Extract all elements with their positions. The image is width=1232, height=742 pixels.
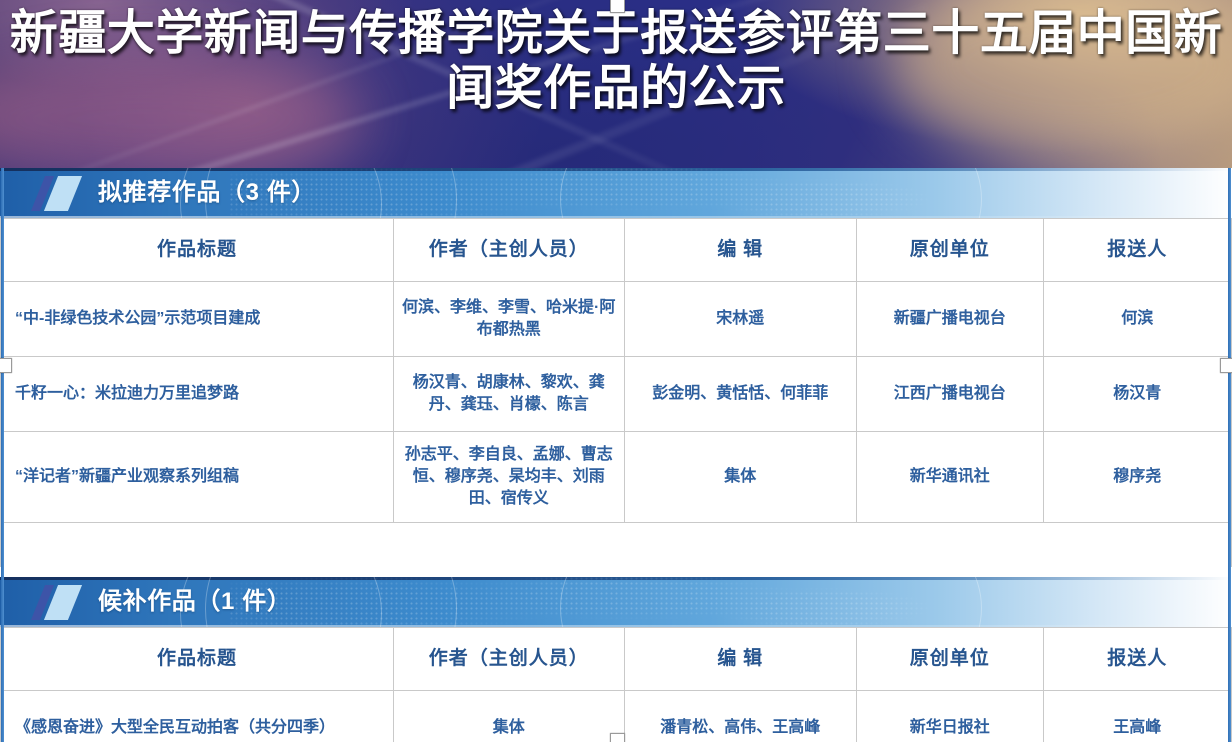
cell-unit: 新疆广播电视台 — [857, 282, 1043, 357]
column-header-editor: 编 辑 — [624, 628, 857, 691]
selection-handle-top[interactable] — [610, 0, 625, 13]
slide-canvas: 新疆大学新闻与传播学院关于报送参评第三十五届中国新 闻奖作品的公示 拟推荐作品（… — [0, 0, 1232, 742]
cell-editor: 潘青松、高伟、王高峰 — [624, 691, 857, 742]
cell-submitter: 穆序尧 — [1043, 432, 1231, 523]
column-header-editor: 编 辑 — [624, 219, 857, 282]
cell-authors: 孙志平、李自良、孟娜、曹志恒、穆序尧、杲均丰、刘雨田、宿传义 — [393, 432, 624, 523]
column-header-title: 作品标题 — [1, 628, 394, 691]
cell-submitter: 王高峰 — [1043, 691, 1231, 742]
table-header-row: 作品标题 作者（主创人员） 编 辑 原创单位 报送人 — [1, 219, 1232, 282]
section-bottom-rule — [0, 625, 1232, 627]
selection-handle-bottom[interactable] — [610, 733, 625, 742]
cell-submitter: 何滨 — [1043, 282, 1231, 357]
section-gap — [0, 567, 1232, 577]
cell-editor: 集体 — [624, 432, 857, 523]
cell-authors: 杨汉青、胡康林、黎欢、龚丹、龚珏、肖檬、陈言 — [393, 357, 624, 432]
slide-body: 拟推荐作品（3 件） 作品标题 作者（主创人员） 编 辑 原创单位 报送人 “中… — [0, 168, 1232, 742]
cell-submitter: 杨汉青 — [1043, 357, 1231, 432]
world-map-dot-pattern — [230, 577, 950, 627]
column-header-unit: 原创单位 — [857, 219, 1043, 282]
selection-edge-right — [1228, 168, 1231, 742]
selection-handle-right[interactable] — [1220, 358, 1232, 373]
section-title-alternate: 候补作品（1 件） — [98, 577, 291, 627]
column-header-title: 作品标题 — [1, 219, 394, 282]
cell-title: “中-非绿色技术公园”示范项目建成 — [1, 282, 394, 357]
column-header-submitter: 报送人 — [1043, 219, 1231, 282]
table-header-row: 作品标题 作者（主创人员） 编 辑 原创单位 报送人 — [1, 628, 1232, 691]
selection-edge-left — [1, 168, 4, 742]
cell-title: 千籽一心：米拉迪力万里追梦路 — [1, 357, 394, 432]
page-title: 新疆大学新闻与传播学院关于报送参评第三十五届中国新 闻奖作品的公示 — [0, 0, 1232, 116]
cell-editor: 彭金明、黄恬恬、何菲菲 — [624, 357, 857, 432]
section-header-recommended: 拟推荐作品（3 件） — [0, 168, 1232, 218]
cell-editor: 宋林遥 — [624, 282, 857, 357]
cell-title: “洋记者”新疆产业观察系列组稿 — [1, 432, 394, 523]
cell-unit: 新华日报社 — [857, 691, 1043, 742]
section-header-alternate: 候补作品（1 件） — [0, 577, 1232, 627]
section-bottom-rule — [0, 216, 1232, 218]
cell-unit: 江西广播电视台 — [857, 357, 1043, 432]
table-spacer-row — [1, 523, 1232, 568]
table-row: 千籽一心：米拉迪力万里追梦路 杨汉青、胡康林、黎欢、龚丹、龚珏、肖檬、陈言 彭金… — [1, 357, 1232, 432]
world-map-dot-pattern — [230, 168, 950, 218]
cell-title: 《感恩奋进》大型全民互动拍客（共分四季） — [1, 691, 394, 742]
cell-authors: 何滨、李维、李雪、哈米提·阿布都热黑 — [393, 282, 624, 357]
column-header-submitter: 报送人 — [1043, 628, 1231, 691]
slash-mark-icon — [38, 176, 82, 211]
title-banner: 新疆大学新闻与传播学院关于报送参评第三十五届中国新 闻奖作品的公示 — [0, 0, 1232, 168]
section-title-recommended: 拟推荐作品（3 件） — [98, 168, 316, 218]
slash-mark-icon — [38, 585, 82, 620]
table-row: “洋记者”新疆产业观察系列组稿 孙志平、李自良、孟娜、曹志恒、穆序尧、杲均丰、刘… — [1, 432, 1232, 523]
selection-handle-left[interactable] — [0, 358, 12, 373]
column-header-authors: 作者（主创人员） — [393, 219, 624, 282]
column-header-unit: 原创单位 — [857, 628, 1043, 691]
column-header-authors: 作者（主创人员） — [393, 628, 624, 691]
cell-unit: 新华通讯社 — [857, 432, 1043, 523]
table-row: “中-非绿色技术公园”示范项目建成 何滨、李维、李雪、哈米提·阿布都热黑 宋林遥… — [1, 282, 1232, 357]
cell-authors: 集体 — [393, 691, 624, 742]
table-alternate: 作品标题 作者（主创人员） 编 辑 原创单位 报送人 《感恩奋进》大型全民互动拍… — [0, 627, 1232, 742]
table-recommended: 作品标题 作者（主创人员） 编 辑 原创单位 报送人 “中-非绿色技术公园”示范… — [0, 218, 1232, 567]
